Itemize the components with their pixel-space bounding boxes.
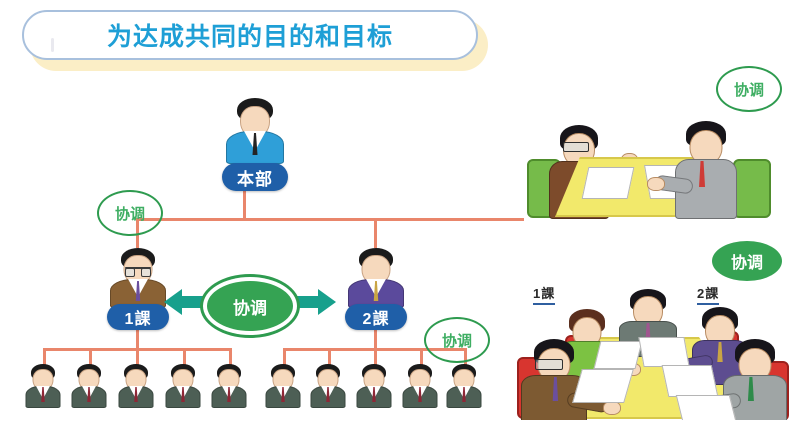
document-sheet-left — [582, 167, 635, 199]
page-title: 为达成共同的目的和目标 — [107, 17, 393, 53]
coordination-label-center: 协调 — [207, 281, 293, 331]
document-sheet — [676, 395, 736, 420]
document-sheet — [638, 337, 689, 367]
coordination-label-upper-left: 协调 — [97, 190, 163, 236]
two-person-meeting-illustration — [525, 95, 775, 220]
org-node-division-1[interactable]: 1課 — [107, 304, 169, 330]
staff-person-icon — [72, 364, 106, 406]
connector-root-horizontal — [136, 218, 524, 221]
title-box: 为达成共同的目的和目标 — [22, 10, 478, 60]
title-banner: 为达成共同的目的和目标 — [22, 10, 480, 62]
glasses-lens-left — [125, 268, 135, 277]
staff-person-icon — [357, 364, 391, 406]
connector-division-2-drop — [374, 330, 377, 350]
document-sheet — [572, 369, 634, 403]
staff-person-icon — [403, 364, 437, 406]
glasses-icon — [125, 267, 151, 269]
group-meeting-illustration: 1課 2課 — [515, 265, 790, 420]
staff-person-icon — [166, 364, 200, 406]
document-sheet — [594, 341, 643, 369]
org-node-division-2[interactable]: 2課 — [345, 304, 407, 330]
double-arrow-icon-left-head — [164, 289, 182, 315]
glasses-icon — [563, 142, 589, 152]
person-gray-suit-red-tie — [673, 121, 739, 217]
staff-person-icon — [266, 364, 300, 406]
title-decorative-glyph — [51, 38, 54, 52]
staff-person-icon — [119, 364, 153, 406]
org-node-honbu[interactable]: 本部 — [222, 163, 288, 191]
connector-division-1-drop — [136, 330, 139, 350]
staff-person-icon — [311, 364, 345, 406]
glasses-icon — [535, 359, 563, 370]
coordination-label-lower-right: 协调 — [424, 317, 490, 363]
double-arrow-icon-right-head — [318, 289, 336, 315]
seat-label-division-1: 1課 — [533, 283, 555, 305]
manager-purple-suit-icon — [348, 248, 404, 306]
seat-label-division-2: 2課 — [697, 283, 719, 305]
connector-to-division-2 — [374, 218, 377, 248]
staff-person-icon — [447, 364, 481, 406]
document-sheet — [662, 365, 719, 397]
connector-root-vertical — [243, 190, 246, 220]
manager-brown-suit-glasses-icon — [110, 248, 166, 306]
glasses-lens-right — [141, 268, 151, 277]
staff-person-icon — [26, 364, 60, 406]
coordination-label-photo-top: 协调 — [716, 66, 782, 112]
hand-gesture — [603, 401, 621, 415]
coordination-label-photo-bottom: 协调 — [712, 241, 782, 281]
manager-blue-suit-icon — [226, 98, 284, 162]
staff-person-icon — [212, 364, 246, 406]
hand-gesture — [647, 177, 665, 191]
